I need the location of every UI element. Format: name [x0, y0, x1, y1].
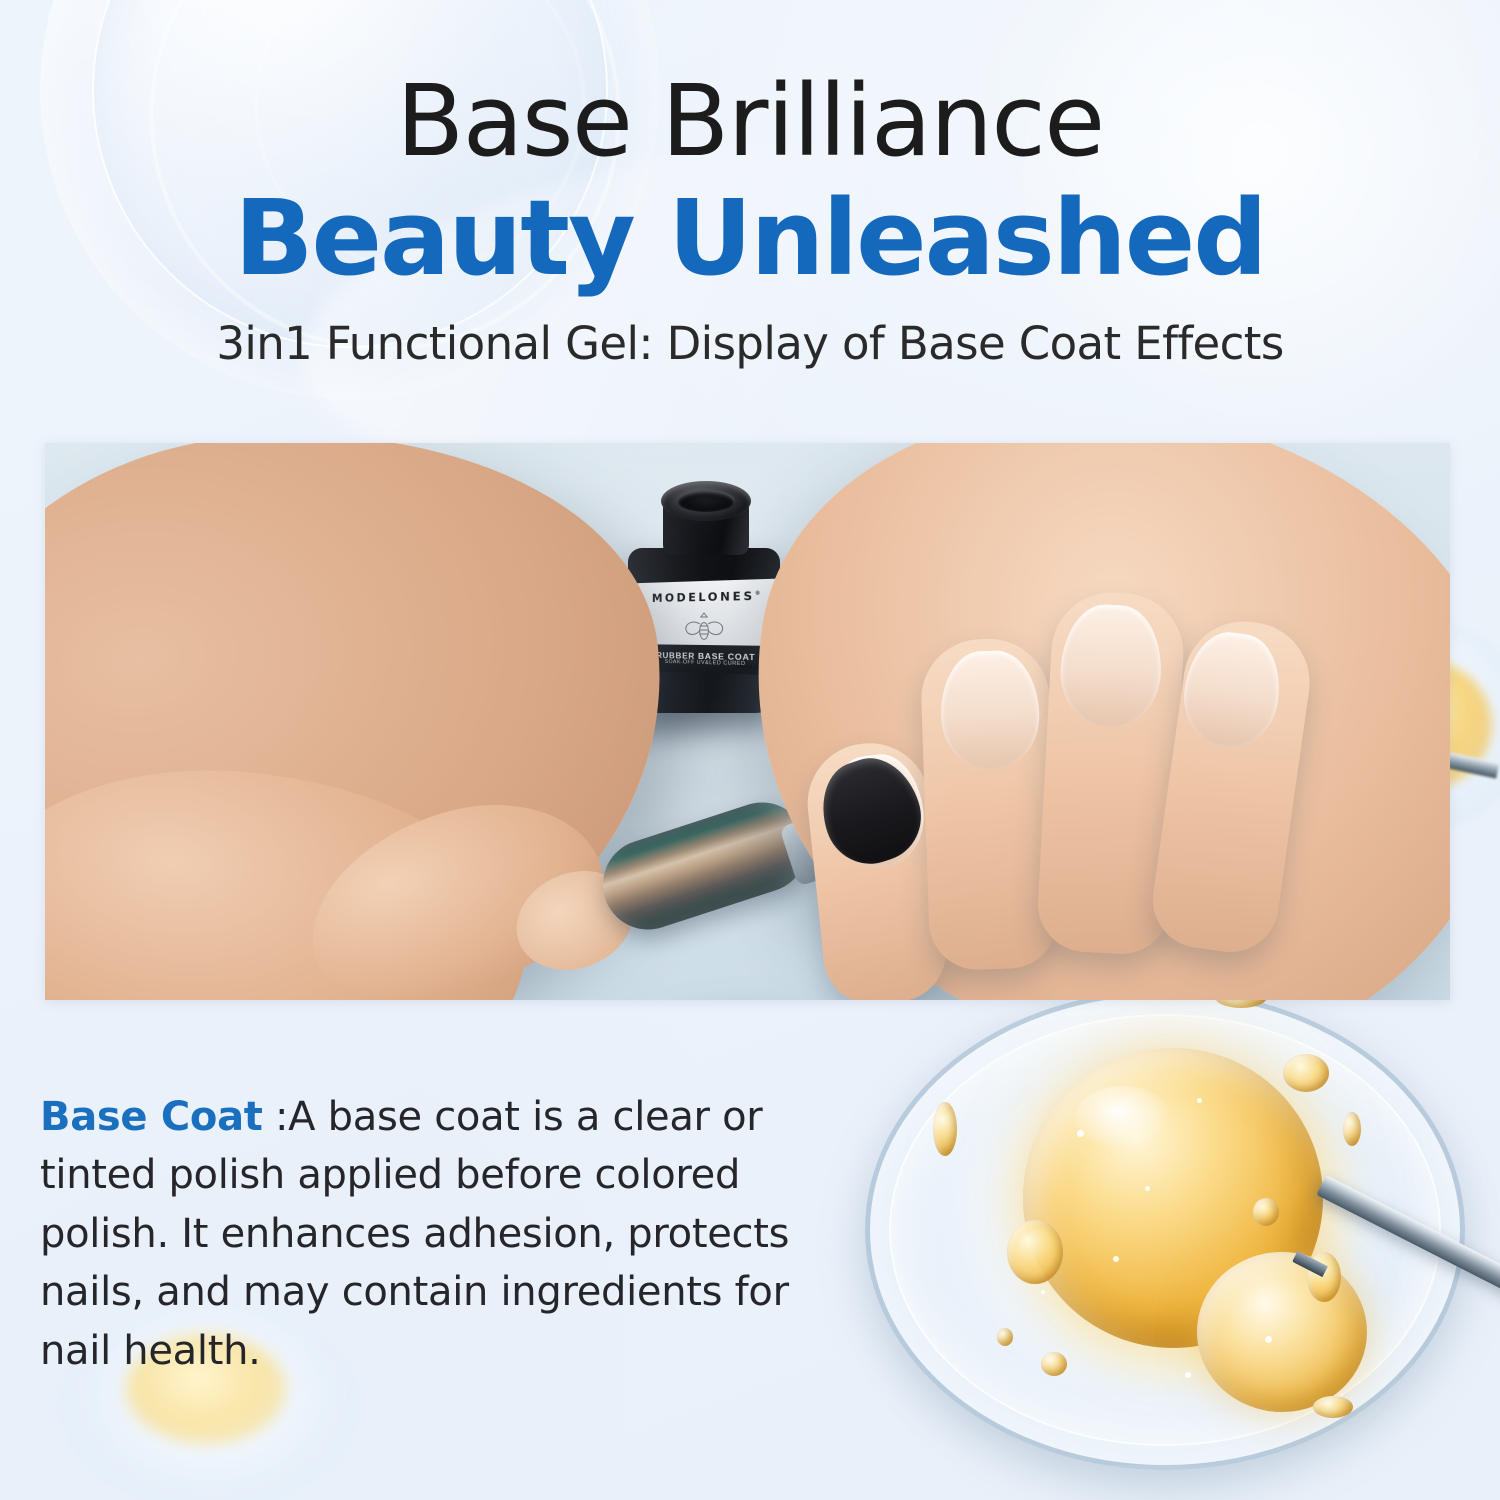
headline-secondary: Beauty Unleashed [0, 185, 1500, 291]
sparkle-icon [1145, 1186, 1150, 1191]
oil-bubble [1041, 1352, 1067, 1376]
subheadline: 3in1 Functional Gel: Display of Base Coa… [0, 317, 1500, 370]
registered-mark-icon: ® [755, 591, 760, 597]
oil-bubble [1343, 1112, 1361, 1146]
description-term: Base Coat [40, 1094, 263, 1140]
promo-canvas: Base Brilliance Beauty Unleashed 3in1 Fu… [0, 0, 1500, 1500]
product-cure-label: SOAK-OFF UV&LED CURED [665, 660, 746, 668]
bee-logo-icon [682, 610, 727, 650]
sparkle-icon [1185, 1372, 1191, 1378]
sparkle-icon [1077, 1130, 1084, 1137]
brand-name-text: MODELONES [652, 589, 755, 605]
bottle-mouth-icon [661, 481, 751, 521]
oil-droplet-medium [1197, 1252, 1367, 1412]
bottom-section: Base Coat :A base coat is a clear or tin… [0, 1000, 1500, 1500]
oil-dish-illustration [845, 980, 1500, 1500]
header-block: Base Brilliance Beauty Unleashed 3in1 Fu… [0, 72, 1500, 370]
oil-bubble [1283, 1054, 1329, 1092]
oil-bubble [933, 1102, 957, 1156]
brand-name: MODELONES® [652, 589, 760, 605]
description-paragraph: Base Coat :A base coat is a clear or tin… [40, 1088, 800, 1380]
oil-bubble [997, 1328, 1013, 1346]
headline-primary: Base Brilliance [0, 72, 1500, 173]
sparkle-icon [1265, 1336, 1272, 1343]
sparkle-icon [1113, 1256, 1119, 1262]
sparkle-icon [1041, 1290, 1045, 1294]
oil-bubble [1253, 1198, 1279, 1226]
oil-bubble [1313, 1396, 1353, 1418]
product-photo: MODELONES® RUBBER BASE COAT SOAK-OFF UV&… [45, 443, 1450, 1000]
oil-bubble [1007, 1220, 1063, 1284]
sparkle-icon [1197, 1098, 1202, 1103]
